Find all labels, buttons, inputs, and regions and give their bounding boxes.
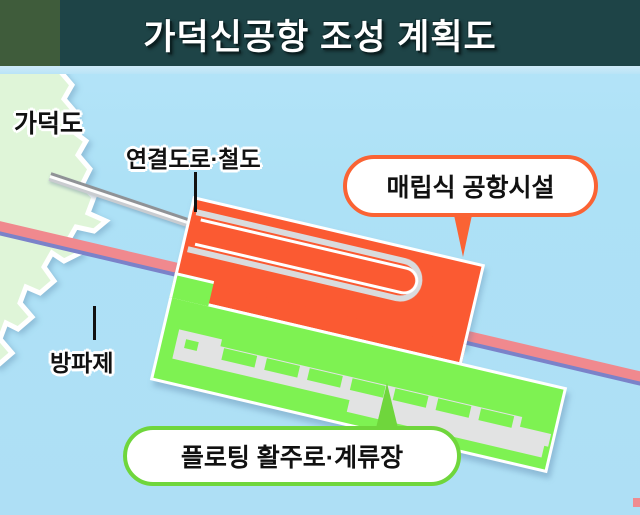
callout-landfill-airport-facility: 매립식 공항시설 xyxy=(343,155,598,217)
callout-floating-runway-apron: 플로팅 활주로·계류장 xyxy=(123,426,461,486)
page-title: 가덕신공항 조성 계획도 xyxy=(0,0,640,68)
banner-bottom-highlight xyxy=(0,66,640,74)
callout-tail-floating xyxy=(376,383,398,428)
callout-tail-landfill xyxy=(454,215,472,257)
map-label-access-road-rail: 연결도로·철도 xyxy=(126,140,261,174)
map-label-breakwater: 방파제 xyxy=(50,344,113,378)
map-label-island: 가덕도 xyxy=(14,104,83,140)
leader-line-access-road xyxy=(194,172,197,212)
edge-mark xyxy=(633,498,640,507)
leader-line-breakwater xyxy=(93,306,96,340)
infographic-map: 가덕도 연결도로·철도 방파제 매립식 공항시설 플로팅 활주로·계류장 가덕신… xyxy=(0,0,640,515)
